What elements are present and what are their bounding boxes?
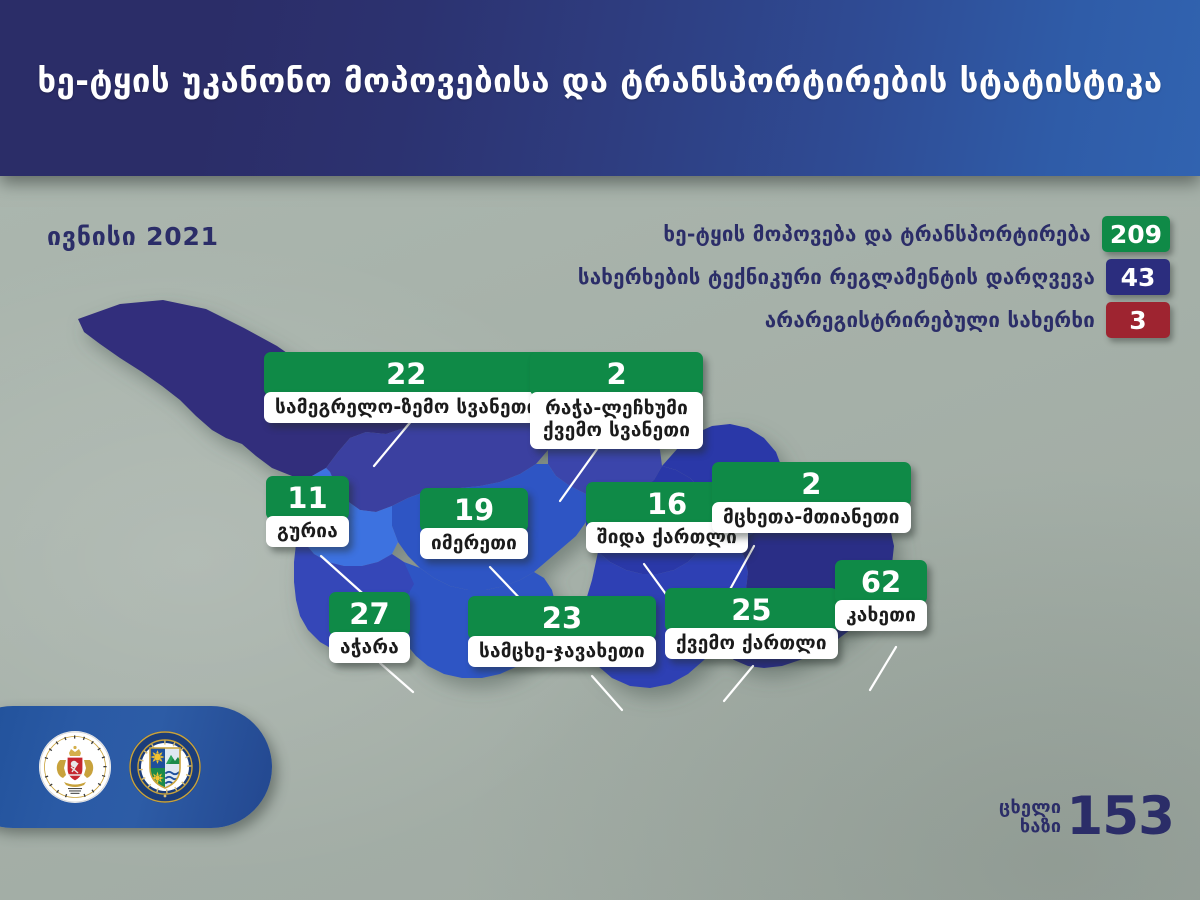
ministry-of-environment-emblem-icon — [38, 730, 112, 804]
legend-badge-navy: 43 — [1106, 259, 1170, 295]
marker-region-label: გურია — [266, 516, 349, 547]
header-banner: ხე-ტყის უკანონო მოპოვებისა და ტრანსპორტი… — [0, 0, 1200, 176]
map-marker-imereti: 19 იმერეთი — [420, 488, 528, 559]
legend-label: ხე-ტყის მოპოვება და ტრანსპორტირება — [663, 222, 1090, 246]
marker-value-badge: 11 — [266, 476, 349, 520]
marker-region-label: სამეგრელო-ზემო სვანეთი — [264, 392, 549, 423]
hotline-block: ცხელი ხაზი 153 — [999, 793, 1174, 842]
marker-region-label-line1: რაჭა-ლეჩხუმი — [545, 397, 688, 419]
map-marker-adjara: 27 აჭარა — [329, 592, 410, 663]
hotline-word-2: ხაზი — [999, 818, 1061, 836]
marker-value-badge: 22 — [264, 352, 549, 396]
legend: ხე-ტყის მოპოვება და ტრანსპორტირება 209 ს… — [578, 216, 1170, 338]
legend-row-unregistered-sawmill: არარეგისტრირებული სახერხი 3 — [765, 302, 1170, 338]
marker-region-label: სამცხე-ჯავახეთი — [468, 636, 656, 667]
legend-badge-red: 3 — [1106, 302, 1170, 338]
legend-badge-green: 209 — [1102, 216, 1170, 252]
leader-line-kvemo-kartli — [724, 666, 753, 701]
marker-value-badge: 23 — [468, 596, 656, 640]
marker-region-label: რაჭა-ლეჩხუმი ქვემო სვანეთი — [530, 392, 703, 449]
map-marker-kvemo-kartli: 25 ქვემო ქართლი — [665, 588, 838, 659]
leader-line-kakheti — [870, 647, 896, 690]
hotline-label: ცხელი ხაზი — [999, 799, 1061, 836]
map-marker-mtskheta-mtianeti: 2 მცხეთა-მთიანეთი — [712, 462, 911, 533]
map-marker-racha-lechkhumi: 2 რაჭა-ლეჩხუმი ქვემო სვანეთი — [530, 352, 703, 449]
page-title: ხე-ტყის უკანონო მოპოვებისა და ტრანსპორტი… — [0, 62, 1200, 100]
marker-region-label-line2: ქვემო სვანეთი — [543, 419, 690, 441]
map-marker-samtskhe-javakheti: 23 სამცხე-ჯავახეთი — [468, 596, 656, 667]
map-marker-kakheti: 62 კახეთი — [835, 560, 927, 631]
marker-region-label: მცხეთა-მთიანეთი — [712, 502, 911, 533]
marker-value-badge: 2 — [712, 462, 911, 506]
marker-region-label: აჭარა — [329, 632, 410, 663]
legend-label: არარეგისტრირებული სახერხი — [765, 308, 1095, 332]
organization-logo-pill — [0, 706, 272, 828]
marker-region-label: ქვემო ქართლი — [665, 628, 838, 659]
marker-region-label: იმერეთი — [420, 528, 528, 559]
period-label: ივნისი 2021 — [47, 222, 219, 251]
marker-region-label: კახეთი — [835, 600, 927, 631]
legend-row-harvest-transport: ხე-ტყის მოპოვება და ტრანსპორტირება 209 — [663, 216, 1170, 252]
leader-line-samtskhe — [592, 676, 622, 710]
marker-value-badge: 19 — [420, 488, 528, 532]
infographic-poster: ხე-ტყის უკანონო მოპოვებისა და ტრანსპორტი… — [0, 0, 1200, 900]
legend-label: სახერხების ტექნიკური რეგლამენტის დარღვევ… — [578, 265, 1095, 289]
map-marker-guria: 11 გურია — [266, 476, 349, 547]
leader-line-adjara — [380, 663, 413, 692]
legend-row-sawmill-regulation: სახერხების ტექნიკური რეგლამენტის დარღვევ… — [578, 259, 1170, 295]
marker-value-badge: 25 — [665, 588, 838, 632]
hotline-word-1: ცხელი — [999, 799, 1061, 817]
marker-value-badge: 62 — [835, 560, 927, 604]
marker-value-badge: 27 — [329, 592, 410, 636]
environmental-supervision-department-emblem-icon — [128, 730, 202, 804]
hotline-number: 153 — [1066, 793, 1174, 842]
map-marker-samegrelo-zemo-svaneti: 22 სამეგრელო-ზემო სვანეთი — [264, 352, 549, 423]
marker-value-badge: 2 — [530, 352, 703, 396]
